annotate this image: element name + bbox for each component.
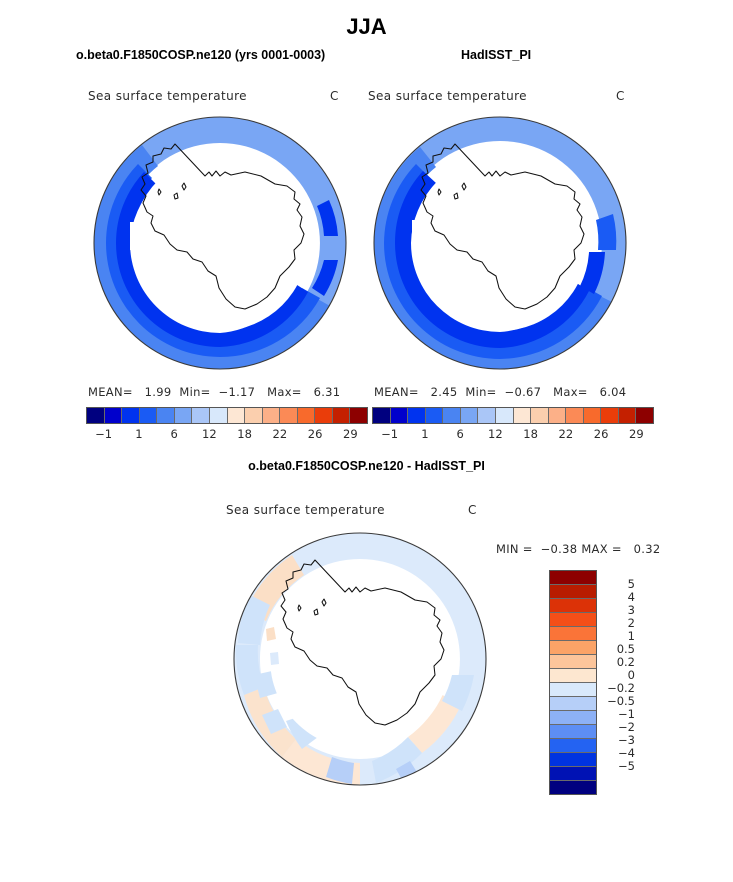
colorbar-diff-cell-6 [550,655,596,669]
colorbar-tick-1: 1 [421,427,428,441]
colorbar-diff-cell-2 [550,599,596,613]
colorbar-absolute-left-ticks: −1161218222629 [86,427,368,445]
colorbar-cell-0 [373,408,391,423]
colorbar-diff-cell-11 [550,725,596,739]
colorbar-cell-7 [496,408,514,423]
stats-line-right: MEAN= 2.45 Min= −0.67 Max= 6.04 [374,385,626,399]
colorbar-cell-11 [566,408,584,423]
colorbar-cell-6 [192,408,210,423]
colorbar-diff-tick-9: −0.5 [601,694,635,708]
polar-map-difference [226,525,494,797]
map-unit-label-right: C [616,89,625,103]
colorbar-cell-6 [478,408,496,423]
colorbar-cell-1 [105,408,123,423]
colorbar-diff-cell-8 [550,683,596,697]
colorbar-cell-12 [584,408,602,423]
colorbar-cell-9 [245,408,263,423]
colorbar-diff-cell-7 [550,669,596,683]
map-variable-label-difference: Sea surface temperature [226,503,385,517]
colorbar-diff-tick-8: −0.2 [601,681,635,695]
polar-map-difference-svg [226,525,494,797]
polar-map-right [366,110,634,380]
panel-title-left: o.beta0.F1850COSP.ne120 (yrs 0001-0003) [76,48,325,62]
colorbar-diff-cell-10 [550,711,596,725]
colorbar-cell-15 [350,408,367,423]
colorbar-diff-tick-13: −4 [601,746,635,760]
colorbar-diff-tick-2: 3 [601,603,635,617]
figure-canvas: JJA o.beta0.F1850COSP.ne120 (yrs 0001-00… [0,0,733,882]
colorbar-tick-4: 18 [523,427,538,441]
colorbar-tick-2: 6 [170,427,177,441]
minmax-line-difference: MIN = −0.38 MAX = 0.32 [496,542,660,556]
colorbar-tick-0: −1 [381,427,398,441]
colorbar-absolute-right-ticks: −1161218222629 [372,427,654,445]
colorbar-tick-5: 22 [273,427,288,441]
colorbar-tick-0: −1 [95,427,112,441]
colorbar-cell-4 [443,408,461,423]
colorbar-diff-tick-12: −3 [601,733,635,747]
colorbar-diff-cell-0 [550,571,596,585]
colorbar-cell-7 [210,408,228,423]
colorbar-cell-3 [426,408,444,423]
colorbar-tick-3: 12 [488,427,503,441]
colorbar-cell-9 [531,408,549,423]
colorbar-cell-14 [333,408,351,423]
panel-title-right: HadISST_PI [461,48,531,62]
colorbar-difference: 543210.50.20−0.2−0.5−1−2−3−4−5 [549,570,639,782]
colorbar-diff-tick-4: 1 [601,629,635,643]
colorbar-diff-cell-5 [550,641,596,655]
colorbar-cell-0 [87,408,105,423]
colorbar-cell-8 [514,408,532,423]
colorbar-diff-cell-1 [550,585,596,599]
stats-line-left: MEAN= 1.99 Min= −1.17 Max= 6.31 [88,385,340,399]
colorbar-cell-12 [298,408,316,423]
colorbar-absolute-right-strip [372,407,654,424]
map-unit-label-difference: C [468,503,477,517]
colorbar-tick-5: 22 [559,427,574,441]
colorbar-cell-10 [549,408,567,423]
colorbar-absolute-left: −1161218222629 [86,407,368,445]
polar-map-right-svg [366,110,634,380]
colorbar-tick-6: 26 [308,427,323,441]
colorbar-tick-4: 18 [237,427,252,441]
page-title: JJA [0,14,733,40]
colorbar-cell-2 [122,408,140,423]
panel-title-difference: o.beta0.F1850COSP.ne120 - HadISST_PI [0,459,733,473]
colorbar-cell-2 [408,408,426,423]
colorbar-cell-1 [391,408,409,423]
colorbar-cell-15 [636,408,653,423]
colorbar-absolute-right: −1161218222629 [372,407,654,445]
colorbar-cell-10 [263,408,281,423]
map-variable-label-left: Sea surface temperature [88,89,247,103]
colorbar-diff-cell-3 [550,613,596,627]
colorbar-diff-tick-0: 5 [601,577,635,591]
colorbar-diff-tick-7: 0 [601,668,635,682]
colorbar-diff-tick-11: −2 [601,720,635,734]
colorbar-diff-cell-14 [550,767,596,781]
map-variable-label-right: Sea surface temperature [368,89,527,103]
polar-map-left-svg [86,110,354,380]
polar-map-left [86,110,354,380]
colorbar-cell-11 [280,408,298,423]
colorbar-difference-strip [549,570,597,795]
colorbar-tick-3: 12 [202,427,217,441]
colorbar-diff-cell-4 [550,627,596,641]
colorbar-cell-5 [175,408,193,423]
colorbar-tick-1: 1 [135,427,142,441]
colorbar-diff-tick-3: 2 [601,616,635,630]
colorbar-diff-cell-13 [550,753,596,767]
colorbar-diff-tick-10: −1 [601,707,635,721]
colorbar-diff-cell-15 [550,781,596,794]
map-unit-label-left: C [330,89,339,103]
colorbar-cell-8 [228,408,246,423]
colorbar-diff-tick-5: 0.5 [601,642,635,656]
colorbar-cell-5 [461,408,479,423]
colorbar-cell-13 [315,408,333,423]
colorbar-tick-7: 29 [629,427,644,441]
colorbar-tick-7: 29 [343,427,358,441]
colorbar-cell-13 [601,408,619,423]
colorbar-cell-4 [157,408,175,423]
colorbar-cell-3 [140,408,158,423]
colorbar-diff-tick-14: −5 [601,759,635,773]
colorbar-cell-14 [619,408,637,423]
colorbar-diff-cell-12 [550,739,596,753]
colorbar-tick-2: 6 [456,427,463,441]
colorbar-absolute-left-strip [86,407,368,424]
colorbar-diff-tick-1: 4 [601,590,635,604]
colorbar-diff-cell-9 [550,697,596,711]
colorbar-tick-6: 26 [594,427,609,441]
colorbar-diff-tick-6: 0.2 [601,655,635,669]
sst-difference-fill [234,533,486,785]
